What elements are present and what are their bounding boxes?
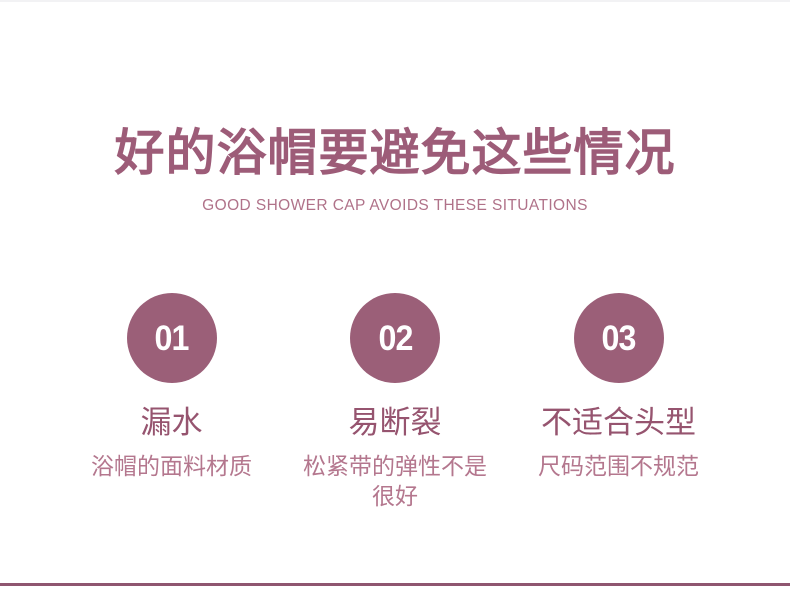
step-number-label: 01 [155, 321, 189, 356]
feature-heading: 漏水 [141, 405, 203, 441]
step-number-label: 03 [602, 321, 636, 356]
step-badge-02: 02 [350, 293, 440, 383]
feature-column-02: 02 易断裂 松紧带的弹性不是很好 [284, 293, 507, 511]
feature-description: 尺码范围不规范 [538, 451, 699, 481]
feature-heading: 不适合头型 [541, 405, 696, 441]
step-number-label: 02 [378, 321, 412, 356]
feature-heading: 易断裂 [349, 405, 442, 441]
feature-column-01: 01 漏水 浴帽的面料材质 [60, 293, 283, 481]
step-badge-01: 01 [127, 293, 217, 383]
page-title: 好的浴帽要避免这些情况 [0, 122, 790, 184]
header-block: 好的浴帽要避免这些情况 GOOD SHOWER CAP AVOIDS THESE… [0, 122, 790, 216]
feature-column-03: 03 不适合头型 尺码范围不规范 [507, 293, 730, 481]
page-subtitle: GOOD SHOWER CAP AVOIDS THESE SITUATIONS [0, 196, 790, 216]
bottom-rule-divider [0, 583, 790, 586]
top-hairline-divider [0, 0, 790, 2]
feature-columns: 01 漏水 浴帽的面料材质 02 易断裂 松紧带的弹性不是很好 03 不适合头型… [60, 293, 730, 511]
feature-description: 浴帽的面料材质 [91, 451, 252, 481]
feature-description: 松紧带的弹性不是很好 [300, 451, 490, 511]
step-badge-03: 03 [574, 293, 664, 383]
info-panel: 好的浴帽要避免这些情况 GOOD SHOWER CAP AVOIDS THESE… [0, 0, 790, 589]
